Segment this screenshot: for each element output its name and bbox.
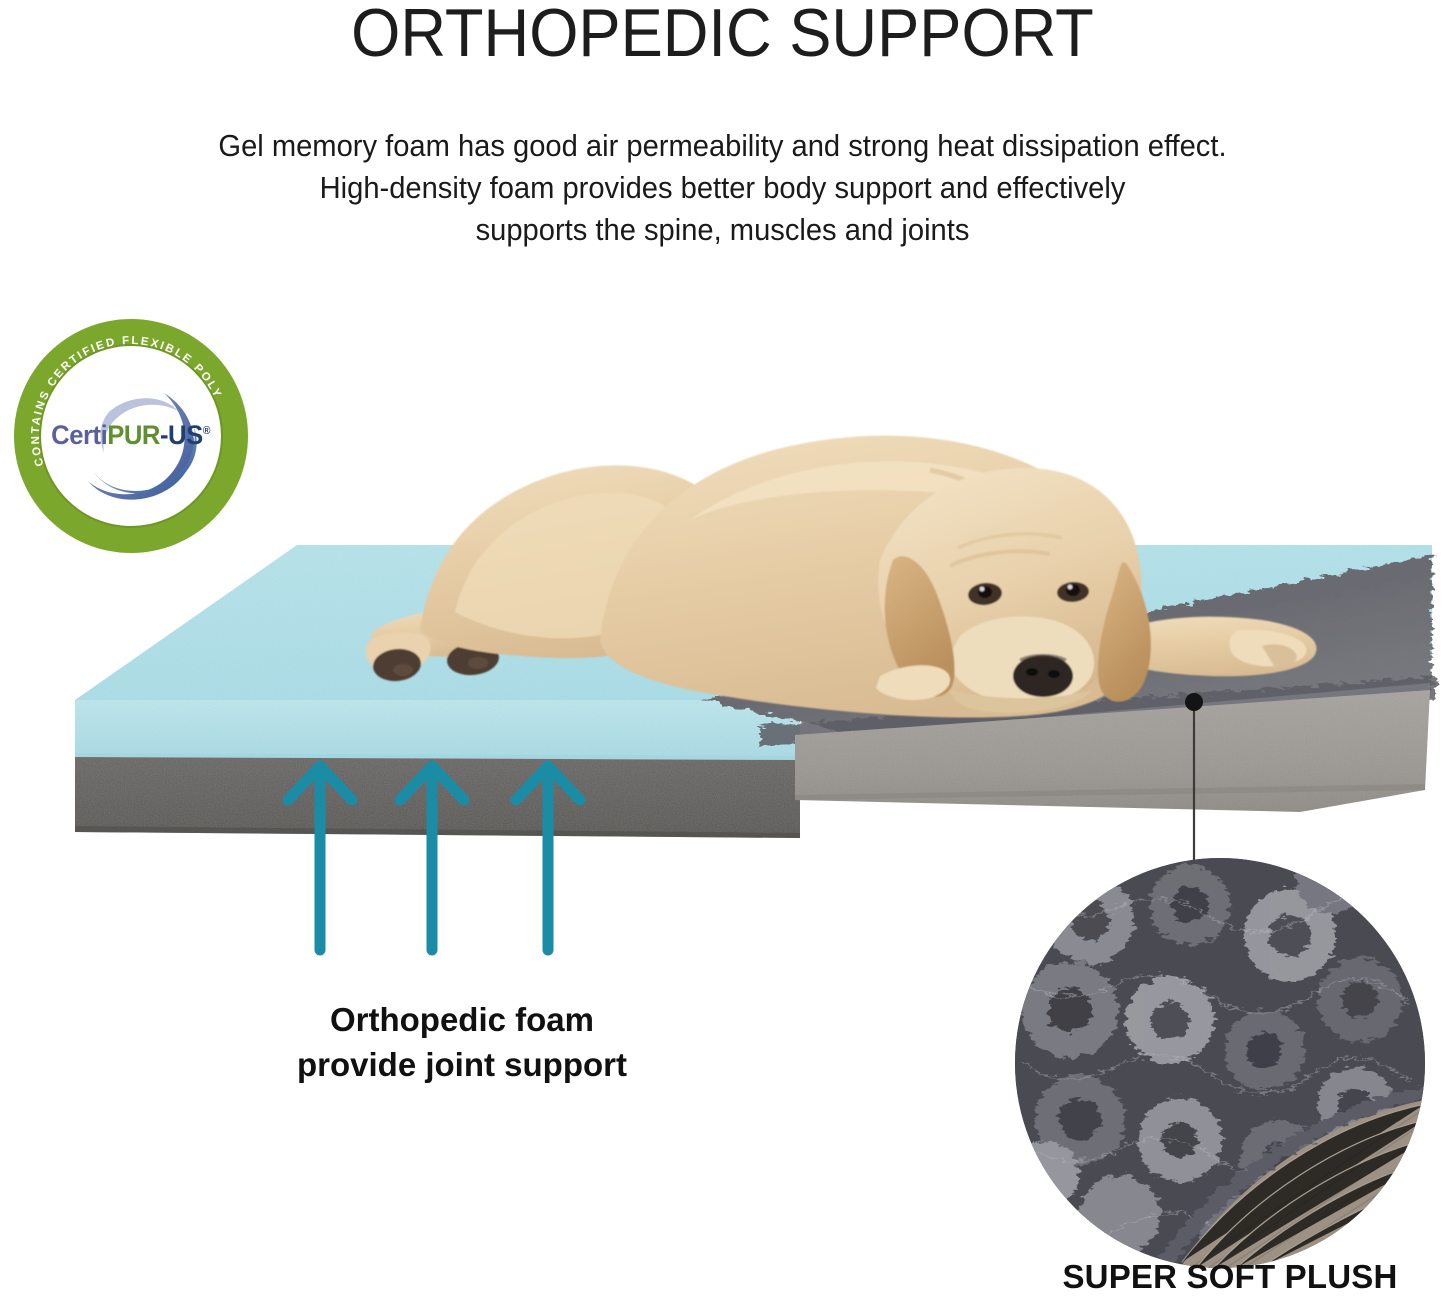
arrow-2 (400, 766, 464, 950)
plush-detail-circle (1011, 846, 1425, 1270)
certipur-badge: CONTAINS CERTIFIED FLEXIBLE POLYURETHANE… (14, 319, 248, 553)
orthopedic-foam-callout-line-2: provide joint support (172, 1043, 752, 1088)
bed-svg (0, 0, 1445, 1303)
arrow-1 (288, 766, 352, 950)
product-illustration (0, 0, 1445, 1303)
super-soft-plush-label: SUPER SOFT PLUSH (1015, 1258, 1445, 1296)
arrow-3 (516, 766, 580, 950)
badge-arc-bottom-text: WWW.CERTIPUR.US (70, 477, 206, 525)
badge-svg: CONTAINS CERTIFIED FLEXIBLE POLYURETHANE… (14, 319, 248, 553)
orthopedic-foam-callout-line-1: Orthopedic foam (172, 998, 752, 1043)
orthopedic-foam-callout: Orthopedic foam provide joint support (172, 998, 752, 1088)
badge-swoosh (88, 393, 197, 500)
